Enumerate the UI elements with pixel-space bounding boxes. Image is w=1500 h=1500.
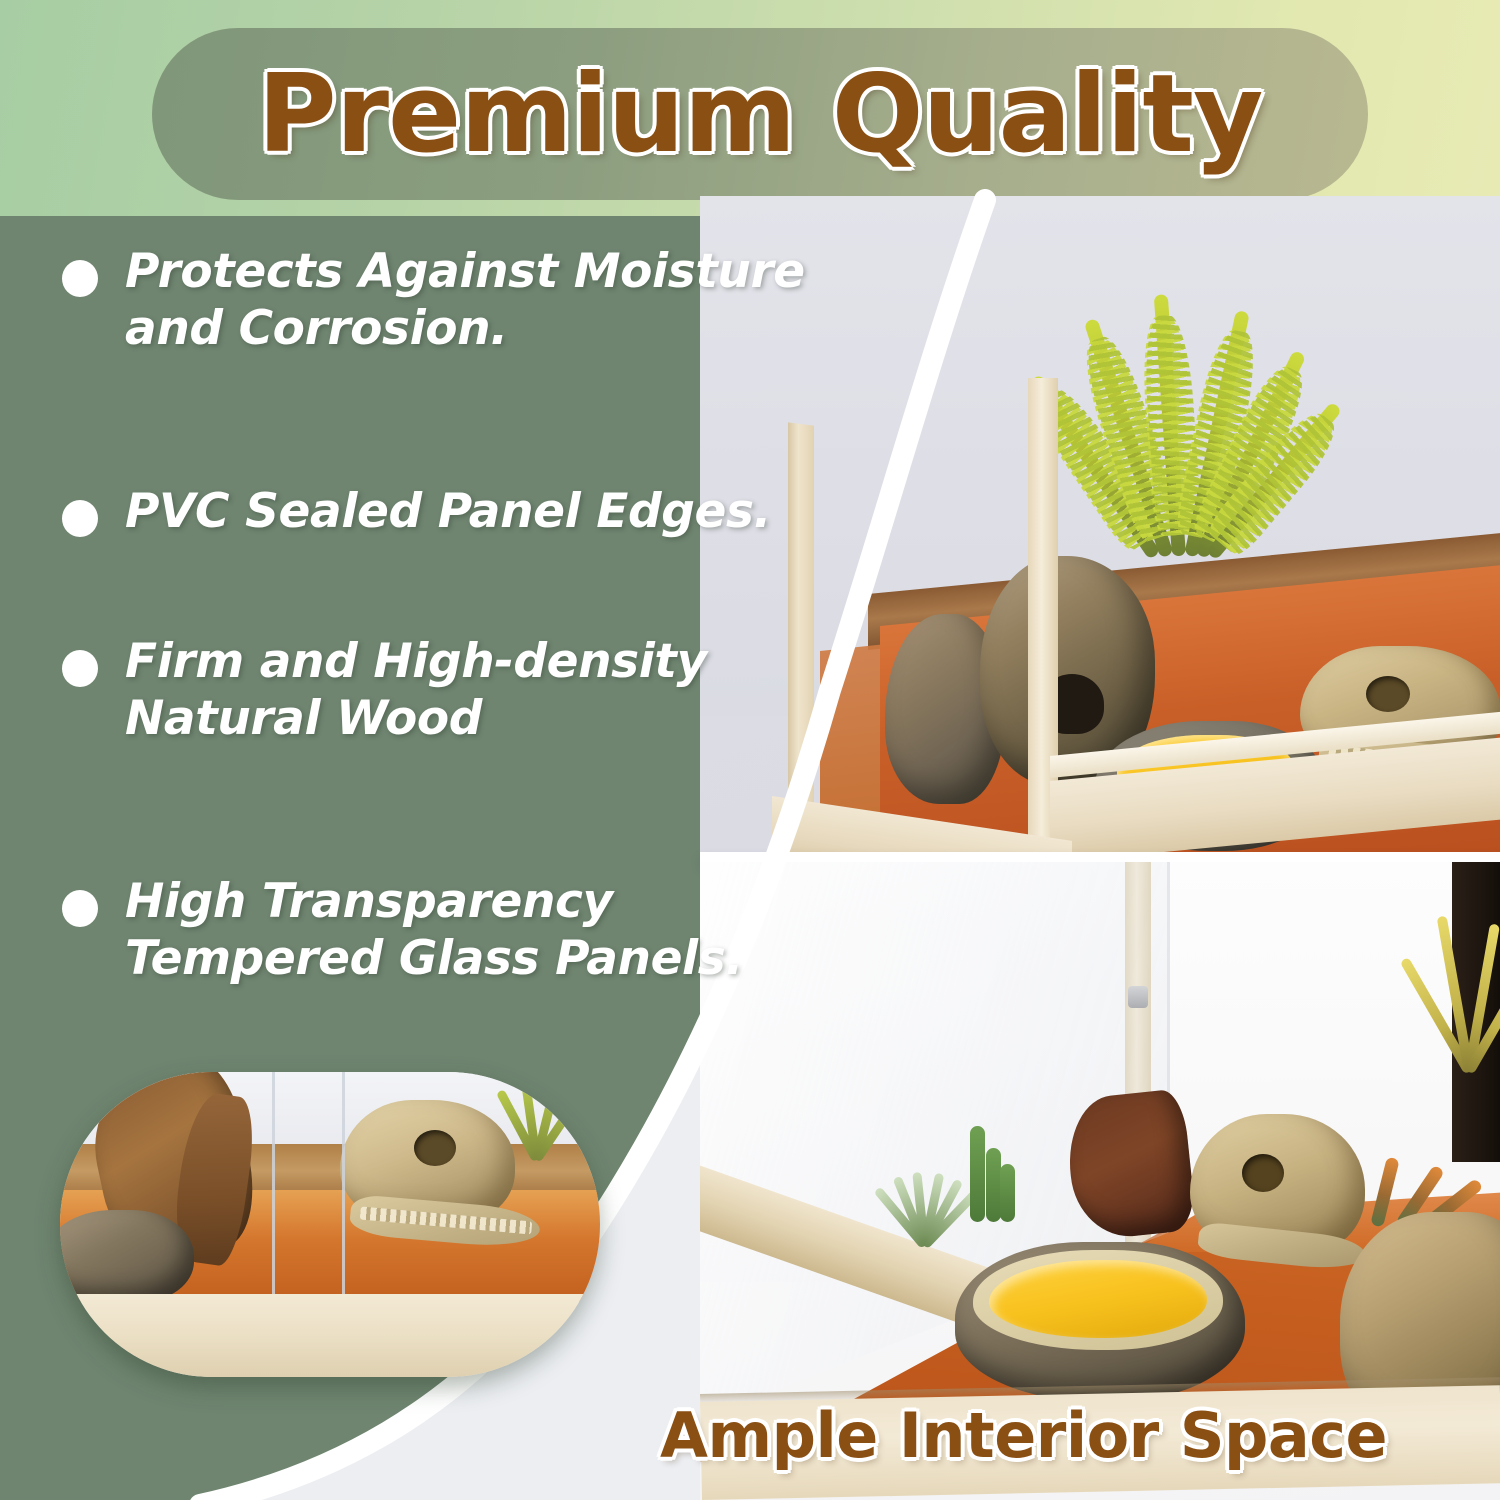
product-feature-infographic: Premium Quality	[0, 0, 1500, 1500]
page-title: Premium Quality	[152, 28, 1368, 200]
wood-frame-post-left	[788, 422, 814, 825]
succulent-plant-decor	[880, 1150, 970, 1246]
feature-item-moisture: Protects Against Moisture and Corrosion.	[62, 244, 872, 358]
bullet-marker-icon	[62, 890, 98, 927]
skull-eye-socket	[414, 1130, 456, 1166]
rock-decor	[60, 1210, 194, 1302]
fern-plant-decor	[488, 1072, 598, 1160]
feature-text: Firm and High-density Natural Wood	[125, 634, 707, 748]
feature-line-1: Firm and High-density	[125, 634, 707, 689]
skull-eye-socket	[1242, 1154, 1284, 1192]
feature-line-2: Natural Wood	[125, 691, 482, 746]
feature-line-1: High Transparency	[125, 874, 613, 929]
feature-text: PVC Sealed Panel Edges.	[125, 484, 771, 541]
product-photo-oval-inset	[60, 1072, 600, 1377]
feature-line-1: Protects Against Moisture	[125, 244, 805, 299]
feature-text: High Transparency Tempered Glass Panels.	[125, 874, 743, 988]
feature-item-pvc-edges: PVC Sealed Panel Edges.	[62, 484, 872, 541]
glass-panel-seam-left	[272, 1072, 275, 1302]
fern-plant-decor	[1030, 226, 1330, 556]
bullet-marker-icon	[62, 500, 98, 537]
feature-line-2: Tempered Glass Panels.	[125, 931, 743, 986]
fern-plant-decor-right	[1442, 872, 1500, 1072]
glass-panel-seam-right	[342, 1072, 345, 1302]
photo-caption-ample-interior-space: Ample Interior Space	[660, 1392, 1490, 1478]
feature-item-tempered-glass: High Transparency Tempered Glass Panels.	[62, 874, 802, 988]
bullet-marker-icon	[62, 650, 98, 687]
cactus-decor	[962, 1112, 1016, 1222]
bullet-marker-icon	[62, 260, 98, 297]
water-dish-basin	[989, 1260, 1207, 1338]
water-dish-decor	[955, 1242, 1245, 1402]
feature-line-2: and Corrosion.	[125, 301, 508, 356]
skull-eye-socket	[1366, 676, 1410, 712]
feature-item-natural-wood: Firm and High-density Natural Wood	[62, 634, 822, 748]
wood-base-plank	[60, 1294, 600, 1377]
feature-line-1: PVC Sealed Panel Edges.	[125, 484, 771, 539]
feature-text: Protects Against Moisture and Corrosion.	[125, 244, 805, 358]
